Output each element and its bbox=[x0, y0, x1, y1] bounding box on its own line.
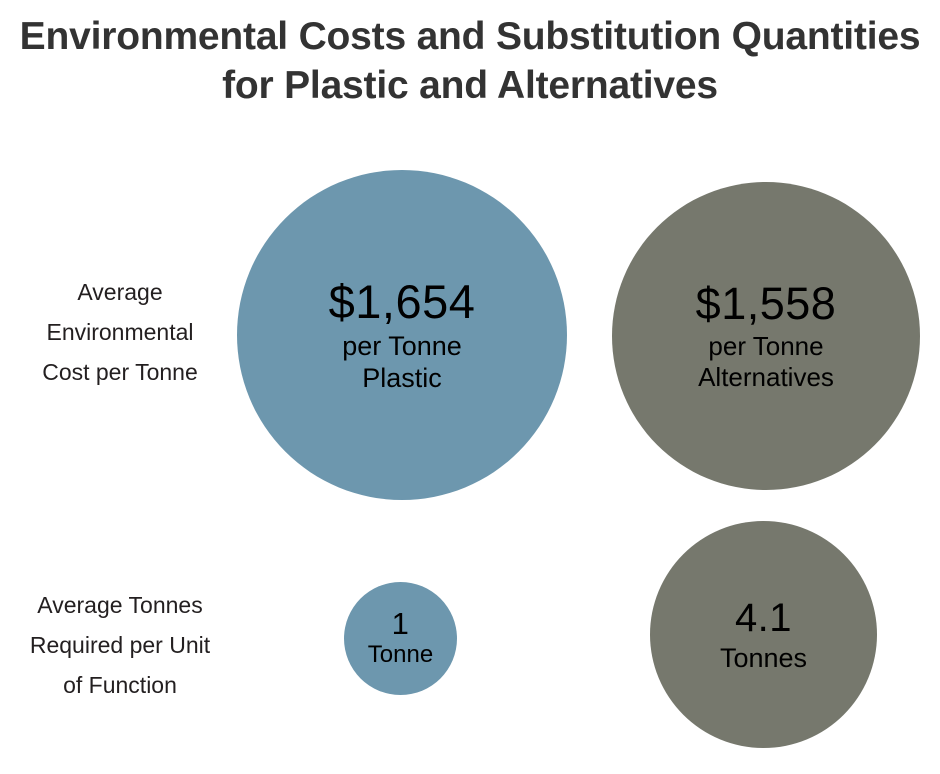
bubble-plastic-quantity-unit: Tonne bbox=[368, 641, 433, 669]
row-label-tonnes-required: Average Tonnes Required per Unit of Func… bbox=[0, 585, 240, 705]
row-label-line-1: Average Tonnes bbox=[0, 585, 240, 625]
row-label-line-2: Required per Unit bbox=[0, 625, 240, 665]
page-title-line-2: for Plastic and Alternatives bbox=[0, 61, 940, 110]
bubble-alternatives-quantity-unit: Tonnes bbox=[720, 642, 807, 674]
bubble-plastic-quantity: 1 Tonne bbox=[344, 582, 457, 695]
bubble-alternatives-cost-material: Alternatives bbox=[698, 362, 834, 393]
bubble-plastic-quantity-value: 1 bbox=[392, 608, 410, 640]
row-label-line-1: Average bbox=[0, 272, 240, 312]
bubble-alternatives-quantity: 4.1 Tonnes bbox=[650, 521, 877, 748]
row-label-line-3: of Function bbox=[0, 665, 240, 705]
bubble-plastic-cost-value: $1,654 bbox=[329, 276, 476, 328]
row-label-line-2: Environmental bbox=[0, 312, 240, 352]
bubble-plastic-cost-unit: per Tonne bbox=[342, 330, 462, 362]
bubble-alternatives-cost: $1,558 per Tonne Alternatives bbox=[612, 182, 920, 490]
infographic-canvas: Environmental Costs and Substitution Qua… bbox=[0, 0, 940, 774]
page-title-line-1: Environmental Costs and Substitution Qua… bbox=[0, 12, 940, 61]
row-label-environmental-cost: Average Environmental Cost per Tonne bbox=[0, 272, 240, 392]
row-label-line-3: Cost per Tonne bbox=[0, 352, 240, 392]
bubble-alternatives-cost-unit: per Tonne bbox=[708, 331, 823, 362]
bubble-alternatives-cost-value: $1,558 bbox=[696, 279, 837, 329]
bubble-plastic-cost-material: Plastic bbox=[362, 362, 442, 394]
page-title: Environmental Costs and Substitution Qua… bbox=[0, 12, 940, 110]
bubble-alternatives-quantity-value: 4.1 bbox=[735, 596, 792, 640]
bubble-plastic-cost: $1,654 per Tonne Plastic bbox=[237, 170, 567, 500]
